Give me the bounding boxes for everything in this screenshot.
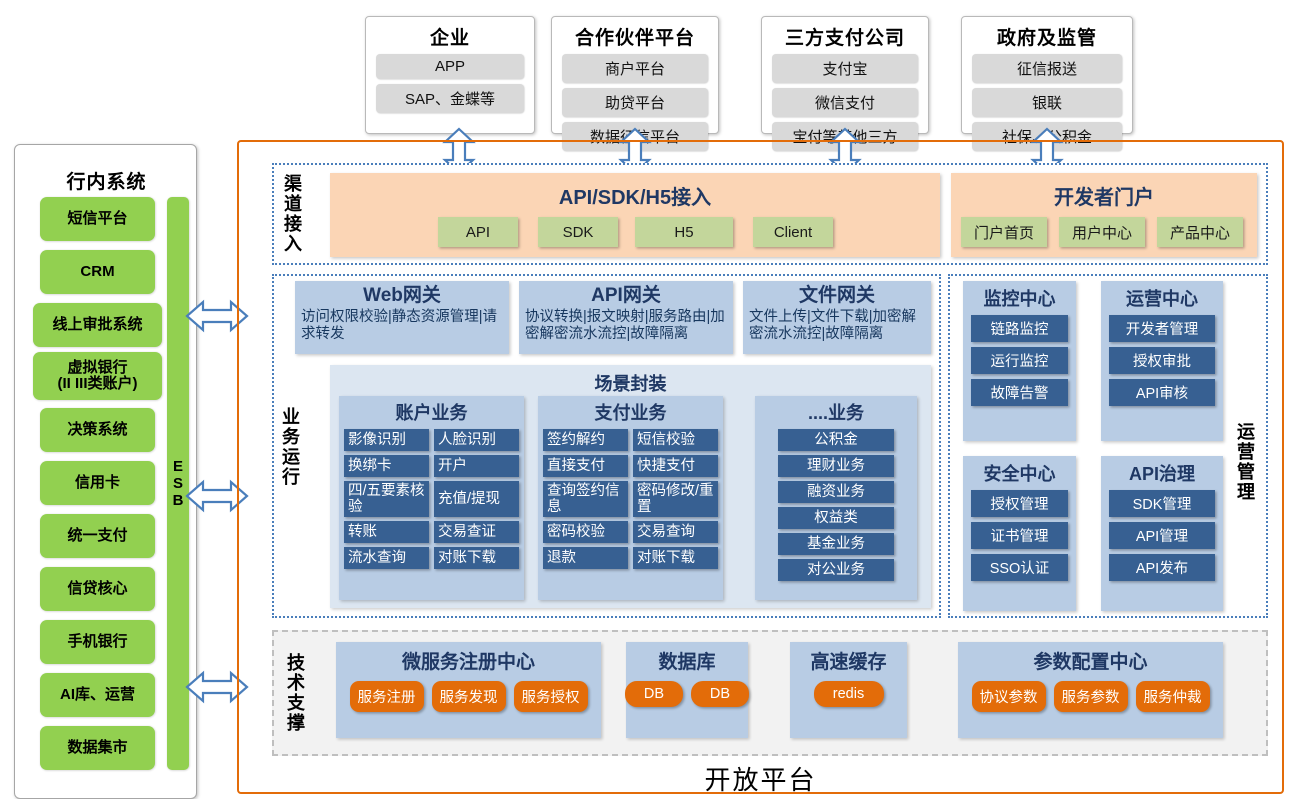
scenario-chip[interactable]: 密码修改/重置 — [633, 481, 718, 517]
bank-systems-title: 行内系统 — [15, 167, 198, 194]
operation-management-caption-c2: 管 — [1237, 462, 1255, 482]
channel-access-caption-c1: 道 — [284, 194, 302, 214]
ops-chip[interactable]: 链路监控 — [971, 315, 1068, 342]
scenario-chip[interactable]: 人脸识别 — [434, 429, 519, 451]
bank-system-item[interactable]: 信用卡 — [40, 461, 155, 505]
ops-chip[interactable]: 授权审批 — [1109, 347, 1215, 374]
scenario-chip[interactable]: 交易查询 — [633, 521, 718, 543]
external-party-title: 政府及监管 — [972, 23, 1122, 50]
api-sdk-h5-title: API/SDK/H5接入 — [330, 181, 940, 210]
bank-system-item[interactable]: 数据集市 — [40, 726, 155, 770]
monitor-center-card: 监控中心 链路监控 运行监控 故障告警 — [963, 281, 1076, 441]
bank-system-item[interactable]: 短信平台 — [40, 197, 155, 241]
external-party-third-party-payment: 三方支付公司 支付宝 微信支付 宝付等其他三方 — [761, 16, 929, 134]
external-party-item: 支付宝 — [772, 54, 918, 83]
scenario-chip[interactable]: 短信校验 — [633, 429, 718, 451]
web-gateway-title: Web网关 — [363, 285, 441, 307]
bank-system-item[interactable]: 线上审批系统 — [33, 303, 162, 347]
bank-system-item[interactable]: 虚拟银行 (II III类账户) — [33, 352, 162, 400]
channel-chip-api[interactable]: API — [438, 217, 518, 247]
tech-card-title: 数据库 — [658, 647, 715, 674]
business-run-caption-c0: 业 — [282, 407, 300, 427]
ops-chip[interactable]: API审核 — [1109, 379, 1215, 406]
portal-chip-product-center[interactable]: 产品中心 — [1157, 217, 1243, 247]
developer-portal-title: 开发者门户 — [951, 181, 1257, 210]
scenario-chip-grid: 影像识别 换绑卡 四/五要素核验 转账 流水查询 人脸识别 开户 充值/提现 交… — [344, 429, 519, 569]
scenario-column-other: ....业务 公积金 理财业务 融资业务 权益类 基金业务 对公业务 — [755, 396, 917, 600]
tech-support-caption-c0: 技 — [287, 653, 305, 673]
bank-system-item-label: 虚拟银行 (II III类账户) — [58, 360, 138, 392]
ops-chip[interactable]: 故障告警 — [971, 379, 1068, 406]
scenario-chip[interactable]: 流水查询 — [344, 547, 429, 569]
web-gateway-card: Web网关 访问权限校验|静态资源管理|请求转发 — [295, 281, 509, 354]
tech-chip-protocol-param[interactable]: 协议参数 — [972, 681, 1046, 712]
business-run-caption-c1: 务 — [282, 427, 300, 447]
scenario-chip-grid: 公积金 理财业务 融资业务 权益类 基金业务 对公业务 — [760, 429, 912, 581]
channel-access-caption-c0: 渠 — [284, 174, 302, 194]
tech-chip-service-arbitration[interactable]: 服务仲裁 — [1136, 681, 1210, 712]
external-party-partner-platform: 合作伙伴平台 商户平台 助贷平台 数据征信平台 — [551, 16, 719, 134]
api-gateway-card: API网关 协议转换|报文映射|服务路由|加密解密流水流控|故障隔离 — [519, 281, 733, 354]
tech-support-caption-c1: 术 — [287, 673, 305, 693]
external-party-item: 助贷平台 — [562, 88, 708, 117]
channel-access-caption-c3: 入 — [284, 234, 302, 254]
portal-chip-home[interactable]: 门户首页 — [961, 217, 1047, 247]
scenario-chip-grid: 签约解约 直接支付 查询签约信息 密码校验 退款 短信校验 快捷支付 密码修改/… — [543, 429, 718, 569]
scenario-chip[interactable]: 基金业务 — [778, 533, 894, 555]
scenario-chip[interactable]: 交易查证 — [434, 521, 519, 543]
external-party-government-regulator: 政府及监管 征信报送 银联 社保、公积金 — [961, 16, 1133, 134]
ops-chip[interactable]: 开发者管理 — [1109, 315, 1215, 342]
external-party-title: 企业 — [376, 23, 524, 50]
scenario-chip[interactable]: 密码校验 — [543, 521, 628, 543]
scenario-column-account: 账户业务 影像识别 换绑卡 四/五要素核验 转账 流水查询 人脸识别 开户 充值… — [339, 396, 524, 600]
tech-chip-service-param[interactable]: 服务参数 — [1054, 681, 1128, 712]
ops-card-title: 监控中心 — [984, 285, 1056, 311]
scenario-chip-col-single: 公积金 理财业务 融资业务 权益类 基金业务 对公业务 — [778, 429, 894, 581]
scenario-chip[interactable]: 充值/提现 — [434, 481, 519, 517]
parameter-config-center-card: 参数配置中心 协议参数 服务参数 服务仲裁 — [958, 642, 1223, 738]
ops-card-title: 运营中心 — [1126, 285, 1198, 311]
scenario-chip[interactable]: 理财业务 — [778, 455, 894, 477]
scenario-chip[interactable]: 转账 — [344, 521, 429, 543]
scenario-chip[interactable]: 签约解约 — [543, 429, 628, 451]
bank-system-item[interactable]: 信贷核心 — [40, 567, 155, 611]
tech-chip-row: 协议参数 服务参数 服务仲裁 — [972, 681, 1210, 712]
operation-management-caption-c1: 营 — [1237, 442, 1255, 462]
bank-system-item[interactable]: 决策系统 — [40, 408, 155, 452]
scenario-column-payment: 支付业务 签约解约 直接支付 查询签约信息 密码校验 退款 短信校验 快捷支付 … — [538, 396, 723, 600]
api-gateway-desc: 协议转换|报文映射|服务路由|加密解密流水流控|故障隔离 — [519, 307, 733, 343]
ops-card-title: 安全中心 — [984, 460, 1056, 486]
redis-icon[interactable]: redis — [814, 681, 884, 707]
ops-chip[interactable]: 授权管理 — [971, 490, 1068, 517]
channel-access-caption: 渠 道 接 入 — [278, 167, 308, 261]
ops-card-title: API治理 — [1129, 460, 1195, 486]
tech-chip-row: 服务注册 服务发现 服务授权 — [350, 681, 588, 712]
ops-chip[interactable]: 运行监控 — [971, 347, 1068, 374]
scenario-chip-col-left: 影像识别 换绑卡 四/五要素核验 转账 流水查询 — [344, 429, 429, 569]
scenario-title: 场景封装 — [330, 370, 931, 396]
bank-system-item[interactable]: CRM — [40, 250, 155, 294]
file-gateway-title: 文件网关 — [799, 285, 875, 307]
microservice-registry-card: 微服务注册中心 服务注册 服务发现 服务授权 — [336, 642, 601, 738]
tech-support-caption-c3: 撑 — [287, 713, 305, 733]
channel-chip-h5[interactable]: H5 — [635, 217, 733, 247]
business-run-caption: 业 务 运 行 — [277, 382, 305, 512]
ops-chip[interactable]: API发布 — [1109, 554, 1215, 581]
scenario-chip[interactable]: 融资业务 — [778, 481, 894, 503]
scenario-chip[interactable]: 查询签约信息 — [543, 481, 628, 517]
tech-support-caption-c2: 支 — [287, 693, 305, 713]
security-center-card: 安全中心 授权管理 证书管理 SSO认证 — [963, 456, 1076, 611]
ops-chip[interactable]: 证书管理 — [971, 522, 1068, 549]
channel-chip-client[interactable]: Client — [753, 217, 833, 247]
bank-system-item[interactable]: AI库、运营 — [40, 673, 155, 717]
scenario-chip-col-right: 人脸识别 开户 充值/提现 交易查证 对账下载 — [434, 429, 519, 569]
scenario-chip[interactable]: 权益类 — [778, 507, 894, 529]
scenario-chip[interactable]: 公积金 — [778, 429, 894, 451]
tech-chip-row: DB DB — [625, 681, 749, 707]
external-party-item: APP — [376, 54, 524, 79]
channel-chip-sdk[interactable]: SDK — [538, 217, 618, 247]
tech-card-title: 高速缓存 — [810, 647, 886, 674]
operation-center-card: 运营中心 开发者管理 授权审批 API审核 — [1101, 281, 1223, 441]
tech-card-title: 微服务注册中心 — [402, 647, 535, 674]
ops-chip[interactable]: SSO认证 — [971, 554, 1068, 581]
bank-systems-panel: 行内系统 短信平台 CRM 线上审批系统 虚拟银行 (II III类账户) 决策… — [14, 144, 197, 799]
business-run-caption-c2: 运 — [282, 447, 300, 467]
scenario-chip[interactable]: 四/五要素核验 — [344, 481, 429, 517]
api-governance-card: API治理 SDK管理 API管理 API发布 — [1101, 456, 1223, 611]
bank-system-item[interactable]: 统一支付 — [40, 514, 155, 558]
file-gateway-desc: 文件上传|文件下载|加密解密流水流控|故障隔离 — [743, 307, 931, 343]
scenario-column-title: ....业务 — [808, 399, 864, 425]
scenario-chip[interactable]: 对账下载 — [633, 547, 718, 569]
scenario-chip[interactable]: 对公业务 — [778, 559, 894, 581]
esb-letter-b: B — [173, 492, 184, 509]
file-gateway-card: 文件网关 文件上传|文件下载|加密解密流水流控|故障隔离 — [743, 281, 931, 354]
external-party-item: 微信支付 — [772, 88, 918, 117]
tech-chip-service-discovery[interactable]: 服务发现 — [432, 681, 506, 712]
scenario-chip-col-right: 短信校验 快捷支付 密码修改/重置 交易查询 对账下载 — [633, 429, 718, 569]
external-party-item: SAP、金蝶等 — [376, 84, 524, 113]
operation-management-caption-c3: 理 — [1237, 482, 1255, 502]
scenario-chip[interactable]: 快捷支付 — [633, 455, 718, 477]
developer-portal-card: 开发者门户 门户首页 用户中心 产品中心 — [951, 173, 1257, 257]
scenario-chip[interactable]: 对账下载 — [434, 547, 519, 569]
web-gateway-desc: 访问权限校验|静态资源管理|请求转发 — [295, 307, 509, 343]
external-party-title: 合作伙伴平台 — [562, 23, 708, 50]
api-gateway-title: API网关 — [591, 285, 661, 307]
tech-chip-service-authorization[interactable]: 服务授权 — [514, 681, 588, 712]
platform-title: 开放平台 — [237, 760, 1284, 797]
scenario-column-title: 账户业务 — [396, 399, 468, 425]
tech-card-title: 参数配置中心 — [1033, 647, 1147, 674]
external-party-item: 征信报送 — [972, 54, 1122, 83]
scenario-chip[interactable]: 退款 — [543, 547, 628, 569]
scenario-column-title: 支付业务 — [595, 399, 667, 425]
api-sdk-h5-access-card: API/SDK/H5接入 API SDK H5 Client — [330, 173, 940, 257]
ops-chip[interactable]: API管理 — [1109, 522, 1215, 549]
external-party-title: 三方支付公司 — [772, 23, 918, 50]
database-card: 数据库 DB DB — [626, 642, 748, 738]
ops-chip[interactable]: SDK管理 — [1109, 490, 1215, 517]
cache-card: 高速缓存 redis — [790, 642, 907, 738]
external-party-enterprise: 企业 APP SAP、金蝶等 — [365, 16, 535, 134]
bank-system-item[interactable]: 手机银行 — [40, 620, 155, 664]
scenario-chip[interactable]: 影像识别 — [344, 429, 429, 451]
scenario-chip[interactable]: 换绑卡 — [344, 455, 429, 477]
esb-letter-s: S — [173, 475, 183, 492]
external-party-item: 商户平台 — [562, 54, 708, 83]
business-run-caption-c3: 行 — [282, 467, 300, 487]
channel-access-caption-c2: 接 — [284, 214, 302, 234]
architecture-diagram: 企业 APP SAP、金蝶等 合作伙伴平台 商户平台 助贷平台 数据征信平台 三… — [0, 0, 1299, 799]
external-party-item: 银联 — [972, 88, 1122, 117]
tech-support-caption: 技 术 支 撑 — [281, 640, 311, 746]
scenario-chip-col-left: 签约解约 直接支付 查询签约信息 密码校验 退款 — [543, 429, 628, 569]
scenario-chip[interactable]: 开户 — [434, 455, 519, 477]
operation-management-caption: 运 营 管 理 — [1232, 397, 1260, 527]
database-icon[interactable]: DB — [691, 681, 749, 707]
database-icon[interactable]: DB — [625, 681, 683, 707]
esb-letter-e: E — [173, 458, 183, 475]
scenario-encapsulation-card: 场景封装 账户业务 影像识别 换绑卡 四/五要素核验 转账 流水查询 人脸识别 … — [330, 365, 931, 608]
tech-chip-row: redis — [814, 681, 884, 707]
operation-management-caption-c0: 运 — [1237, 422, 1255, 442]
tech-chip-service-register[interactable]: 服务注册 — [350, 681, 424, 712]
scenario-chip[interactable]: 直接支付 — [543, 455, 628, 477]
portal-chip-user-center[interactable]: 用户中心 — [1059, 217, 1145, 247]
